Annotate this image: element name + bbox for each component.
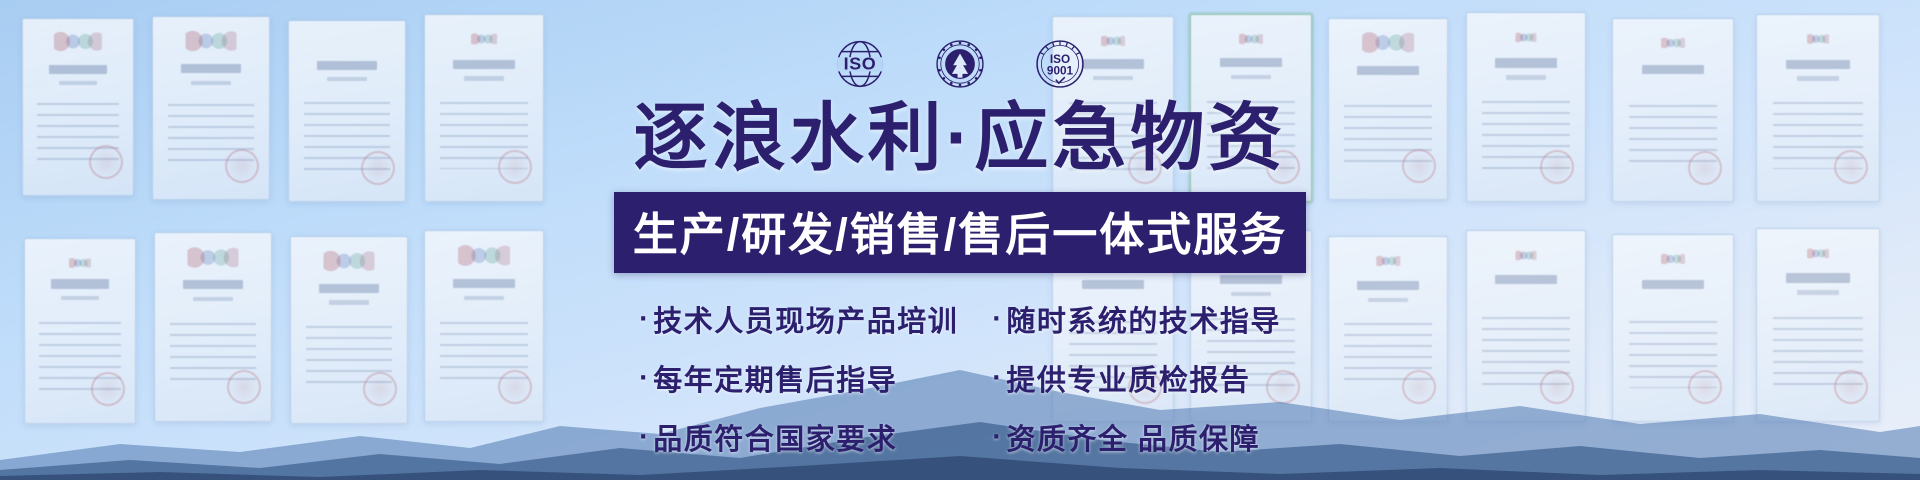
list-item-label: 品质符合国家要求	[653, 416, 897, 458]
list-item-label: 资质齐全 品质保障	[1006, 416, 1260, 458]
bullet-icon: ·	[639, 421, 650, 454]
feature-list: · 技术人员现场产品培训 · 随时系统的技术指导 · 每年定期售后指导 · 提供…	[639, 298, 1281, 458]
bullet-icon: ·	[992, 421, 1003, 454]
svg-text:ISO: ISO	[844, 54, 877, 74]
bullet-icon: ·	[639, 362, 650, 395]
list-item: · 技术人员现场产品培训	[639, 298, 958, 340]
list-item-label: 每年定期售后指导	[653, 357, 897, 399]
list-item-label: 技术人员现场产品培训	[653, 298, 958, 340]
page-title: 逐浪水利·应急物资	[634, 100, 1287, 175]
list-item: · 资质齐全 品质保障	[992, 416, 1281, 458]
list-item: · 品质符合国家要求	[639, 416, 958, 458]
bullet-icon: ·	[639, 303, 650, 336]
iso-9001-badge: ISO 9001	[1029, 33, 1091, 95]
list-item-label: 随时系统的技术指导	[1006, 298, 1281, 340]
list-item: · 每年定期售后指导	[639, 357, 958, 399]
bullet-icon: ·	[992, 303, 1003, 336]
list-item-label: 提供专业质检报告	[1006, 357, 1250, 399]
iso-14000-environment-badge	[929, 33, 991, 95]
bullet-icon: ·	[992, 362, 1003, 395]
svg-text:9001: 9001	[1047, 65, 1074, 78]
subtitle-bar: 生产/研发/销售/售后一体式服务	[614, 192, 1307, 273]
banner-content: 逐浪水利·应急物资 生产/研发/销售/售后一体式服务 · 技术人员现场产品培训 …	[0, 100, 1920, 458]
iso-globe-badge: ISO	[829, 33, 891, 95]
svg-text:ISO: ISO	[1050, 53, 1070, 66]
list-item: · 提供专业质检报告	[992, 357, 1281, 399]
list-item: · 随时系统的技术指导	[992, 298, 1281, 340]
certification-badge-row: ISO	[0, 33, 1920, 95]
promotional-banner: ISO	[0, 0, 1920, 480]
